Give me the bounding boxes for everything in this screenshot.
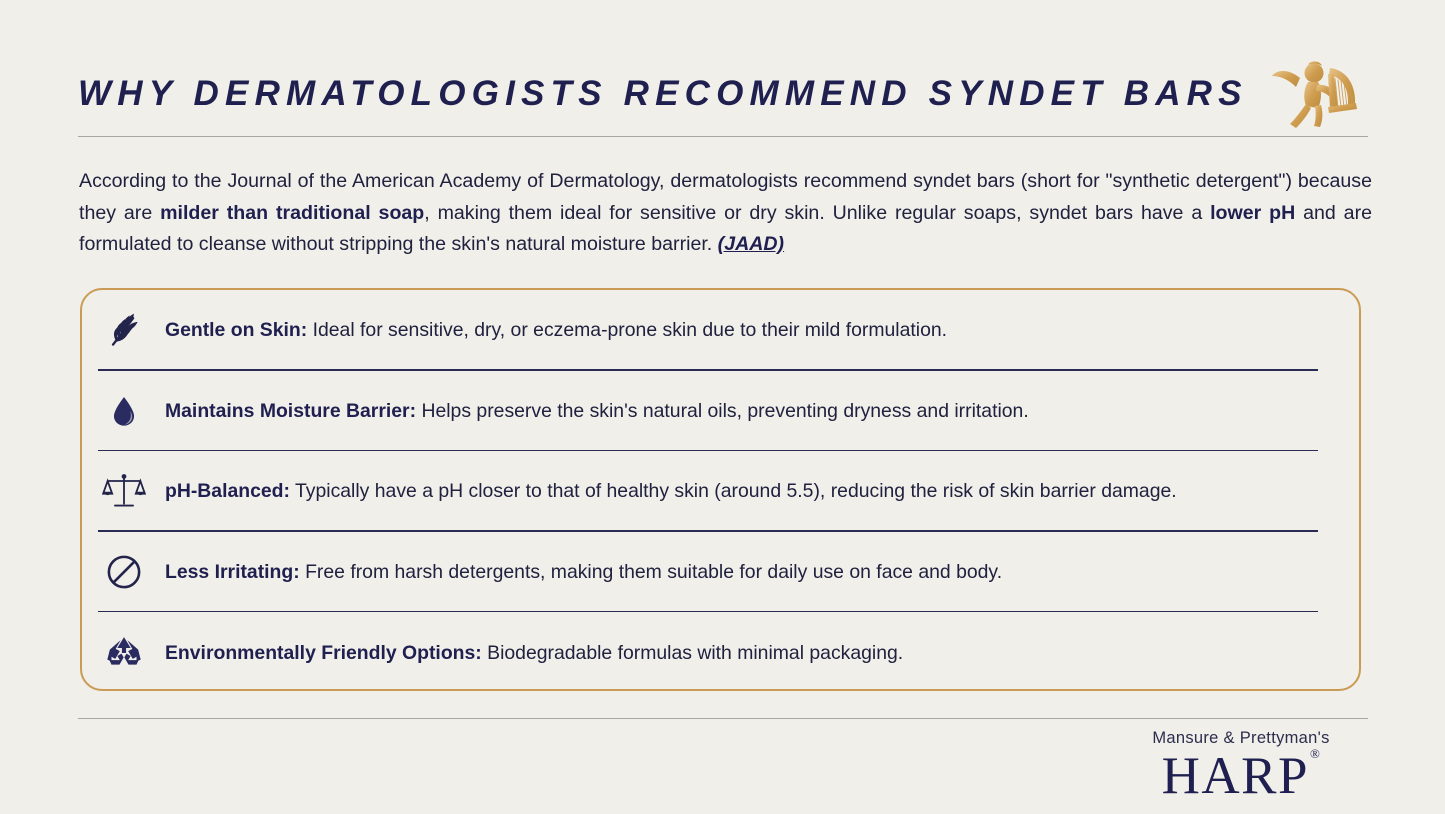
list-item-label: Maintains Moisture Barrier: [165,400,416,422]
brand-wordmark: HARP [1162,747,1309,805]
list-item-label: Gentle on Skin: [165,319,307,341]
water-droplet-icon [95,389,153,433]
list-item: pH-Balanced: Typically have a pH closer … [82,451,1359,532]
header: WHY DERMATOLOGISTS RECOMMEND SYNDET BARS [78,58,1368,128]
list-item-desc: Helps preserve the skin's natural oils, … [416,400,1029,422]
list-item: Environmentally Friendly Options: Biodeg… [82,612,1359,693]
list-item-desc: Typically have a pH closer to that of he… [290,480,1177,502]
intro-bold-1: milder than traditional soap [160,202,424,224]
footer-divider [78,718,1368,719]
list-item-text: Environmentally Friendly Options: Biodeg… [165,640,903,666]
list-item: Maintains Moisture Barrier: Helps preser… [82,371,1359,452]
brand-name: HARP® [1162,748,1321,804]
page-title: WHY DERMATOLOGISTS RECOMMEND SYNDET BARS [78,76,1248,111]
benefits-list: Gentle on Skin: Ideal for sensitive, dry… [82,290,1359,689]
list-item-desc: Ideal for sensitive, dry, or eczema-pron… [307,319,947,341]
list-item-desc: Free from harsh detergents, making them … [300,561,1002,583]
intro-paragraph: According to the Journal of the American… [79,166,1372,261]
list-item-label: Environmentally Friendly Options: [165,642,482,664]
list-item: Less Irritating: Free from harsh deterge… [82,532,1359,613]
intro-text-2: , making them ideal for sensitive or dry… [424,202,1210,224]
list-item-label: Less Irritating: [165,561,300,583]
registered-trademark-symbol: ® [1310,746,1321,761]
leaf-icon [95,308,153,352]
list-item-desc: Biodegradable formulas with minimal pack… [482,642,903,664]
list-item-text: Gentle on Skin: Ideal for sensitive, dry… [165,317,947,343]
list-item-label: pH-Balanced: [165,480,290,502]
list-item-text: pH-Balanced: Typically have a pH closer … [165,478,1177,504]
list-item: Gentle on Skin: Ideal for sensitive, dry… [82,290,1359,371]
list-item-text: Maintains Moisture Barrier: Helps preser… [165,398,1029,424]
prohibition-icon [95,550,153,594]
list-item-text: Less Irritating: Free from harsh deterge… [165,559,1002,585]
infographic-page: WHY DERMATOLOGISTS RECOMMEND SYNDET BARS [0,0,1445,814]
brand-tagline: Mansure & Prettyman's [1111,728,1371,748]
intro-bold-2: lower pH [1210,202,1295,224]
balance-scales-icon [95,469,153,513]
recycle-icon [95,631,153,675]
benefits-card: Gentle on Skin: Ideal for sensitive, dry… [80,288,1361,691]
citation-link[interactable]: (JAAD) [718,233,784,255]
cherub-with-harp-icon [1270,54,1366,132]
brand-logo: Mansure & Prettyman's HARP® [1111,728,1371,804]
header-divider [78,136,1368,137]
